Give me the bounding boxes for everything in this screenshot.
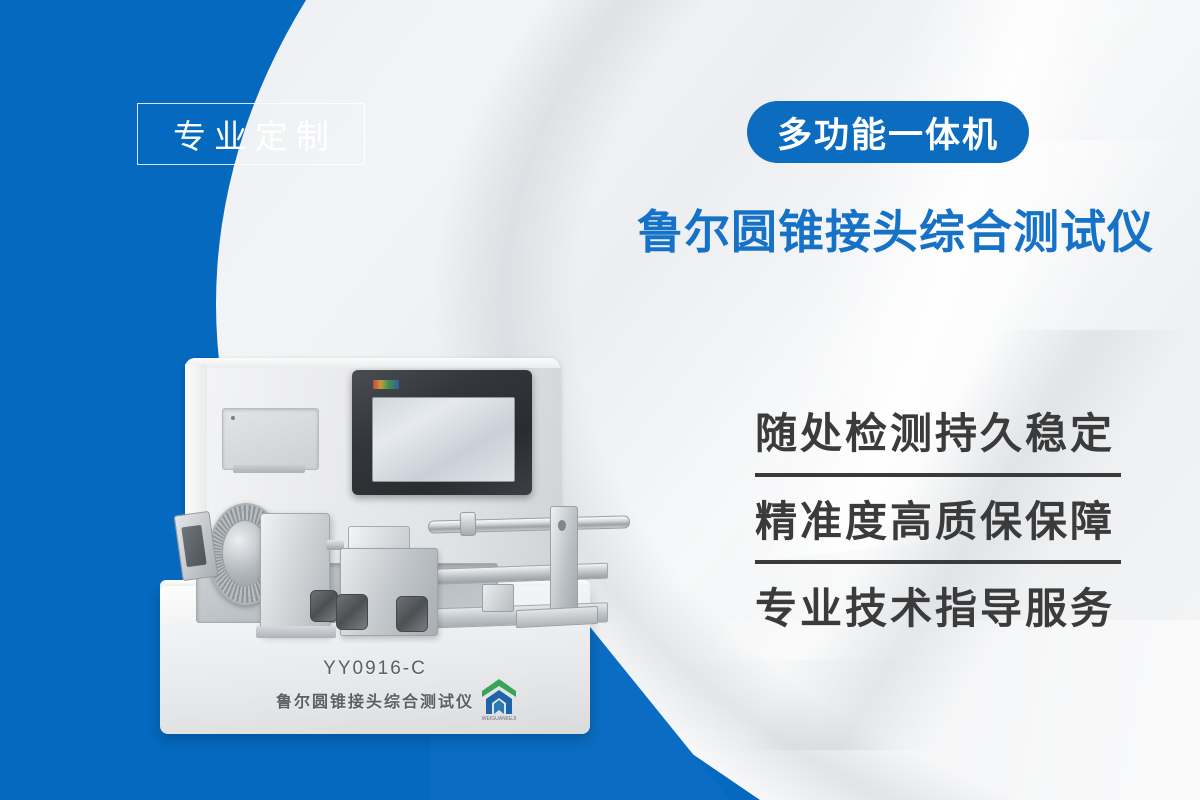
machine-small-clamp	[482, 584, 514, 612]
multifunction-badge: 多功能一体机	[747, 101, 1029, 163]
machine-printer-indicator	[231, 416, 235, 420]
weiguan-keji-logo-icon: WEIGUANKEJI	[478, 676, 520, 722]
machine-bracket-hole	[558, 520, 566, 531]
machine-name-label: 鲁尔圆锥接头综合测试仪	[160, 688, 590, 712]
machine-printer-slot	[222, 408, 319, 470]
machine-adjust-knob-left	[310, 590, 338, 622]
machine-adjust-knob-center	[336, 594, 368, 630]
custom-made-badge: 专业定制	[137, 103, 365, 165]
custom-made-badge-label: 专业定制	[165, 110, 337, 158]
feature-divider-1	[755, 473, 1121, 477]
machine-upper-body-top-edge	[185, 358, 560, 368]
feature-item-3: 专业技术指导服务	[755, 580, 1123, 644]
machine-adjust-knob-right	[396, 596, 428, 632]
machine-rod-collar	[460, 512, 477, 536]
page-title: 鲁尔圆锥接头综合测试仪	[637, 196, 1154, 262]
svg-text:WEIGUANKEJI: WEIGUANKEJI	[482, 716, 516, 722]
hmi-brand-logo-icon	[373, 380, 399, 389]
product-banner: 专业定制	[0, 0, 1200, 800]
machine-motor-mount-foot	[256, 626, 336, 638]
machine-touchscreen-display	[372, 397, 515, 482]
feature-divider-2	[755, 560, 1121, 564]
multifunction-badge-label: 多功能一体机	[777, 107, 999, 158]
machine-touchscreen-bezel	[352, 370, 532, 495]
feature-item-1: 随处检测持久稳定	[755, 405, 1123, 469]
product-machine-image: YY0916-C 鲁尔圆锥接头综合测试仪 WEIGUANKEJI	[160, 358, 660, 758]
machine-model-label: YY0916-C	[160, 658, 590, 680]
feature-list: 随处检测持久稳定 精准度高质保保障 专业技术指导服务	[755, 405, 1123, 644]
feature-item-2: 精准度高质保保障	[755, 493, 1123, 557]
